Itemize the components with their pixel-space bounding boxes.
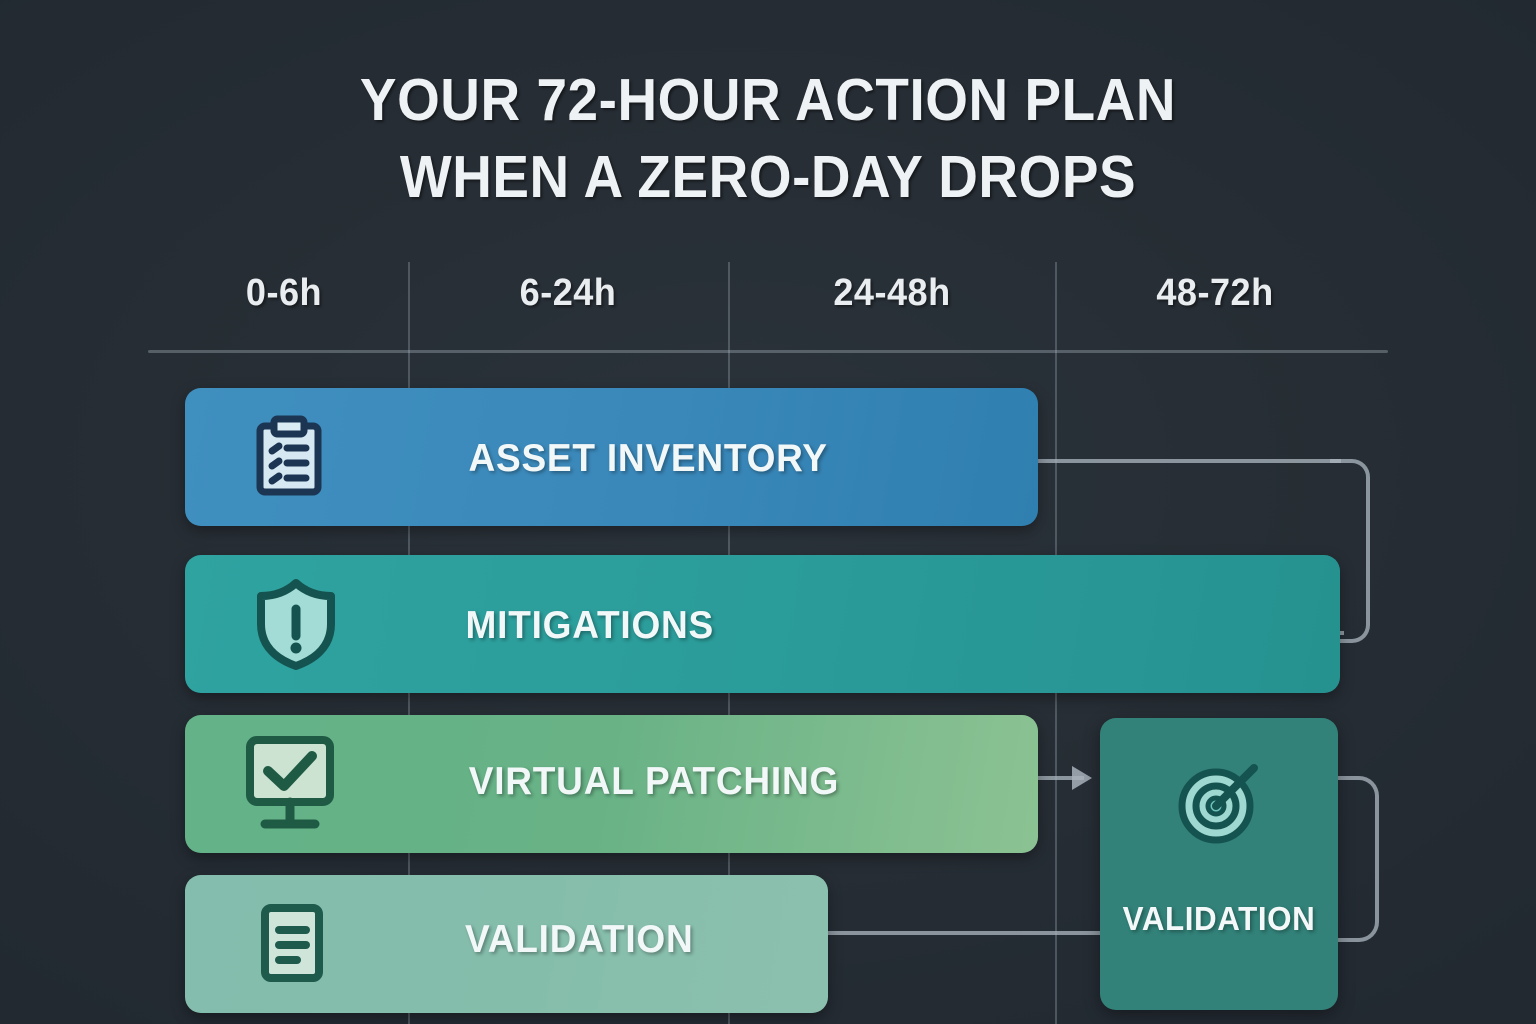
timeline-label-24-48h: 24-48h xyxy=(746,272,1039,315)
document-lines-icon xyxy=(256,900,328,986)
title-line-2: WHEN A ZERO-DAY DROPS xyxy=(54,139,1482,216)
validation-card-label: VALIDATION xyxy=(1106,900,1332,938)
bar-mitigations[interactable] xyxy=(185,555,1340,693)
clipboard-checklist-icon xyxy=(246,415,332,501)
validation-card[interactable]: VALIDATION xyxy=(1100,718,1338,1010)
infographic-canvas: YOUR 72-HOUR ACTION PLAN WHEN A ZERO-DAY… xyxy=(0,0,1536,1024)
page-title: YOUR 72-HOUR ACTION PLAN WHEN A ZERO-DAY… xyxy=(0,62,1536,216)
timeline-label-6-24h: 6-24h xyxy=(426,272,711,315)
arrow-head-icon xyxy=(1072,766,1092,790)
shield-alert-icon xyxy=(252,578,340,670)
timeline-baseline xyxy=(148,350,1388,353)
timeline-label-48-72h: 48-72h xyxy=(1073,272,1358,315)
bar-label-validation: VALIDATION xyxy=(465,918,694,962)
timeline-label-0-6h: 0-6h xyxy=(174,272,394,315)
bar-label-virtual-patching: VIRTUAL PATCHING xyxy=(469,760,839,804)
bar-label-mitigations: MITIGATIONS xyxy=(466,604,714,648)
monitor-check-icon xyxy=(240,730,340,834)
bar-label-asset-inventory: ASSET INVENTORY xyxy=(468,437,827,481)
title-line-1: YOUR 72-HOUR ACTION PLAN xyxy=(54,62,1482,139)
target-arrow-icon xyxy=(1168,752,1270,859)
